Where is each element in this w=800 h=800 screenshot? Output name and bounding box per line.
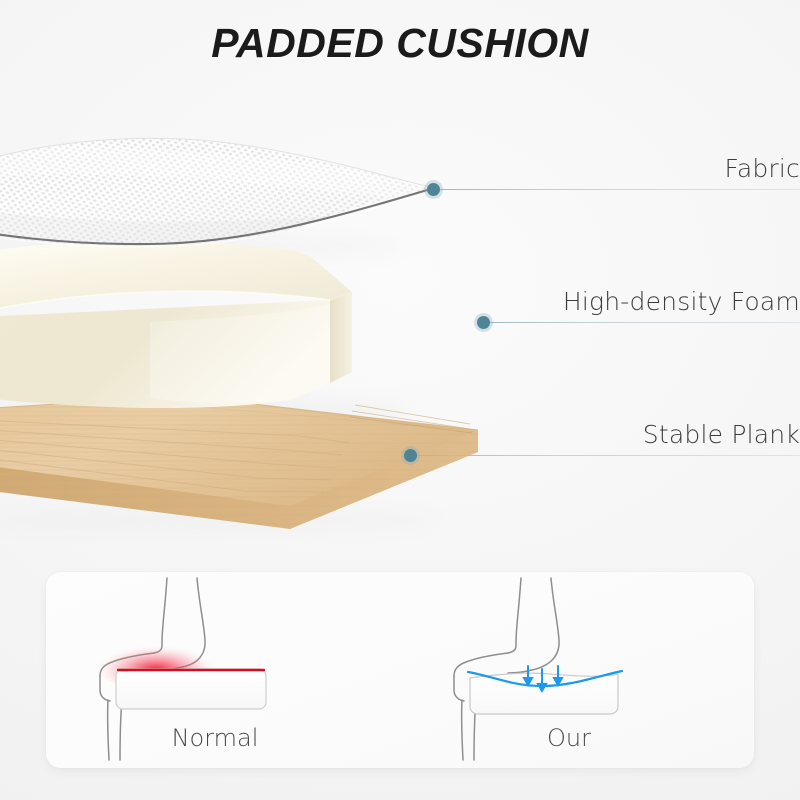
- callout-dot-icon: [427, 183, 440, 196]
- callout-dot-icon: [404, 449, 417, 462]
- callout-dot-icon: [477, 316, 490, 329]
- exploded-product-illustration: [0, 0, 800, 560]
- callout-leader-line: [410, 455, 800, 456]
- callout-label-fabric: Fabric: [725, 154, 800, 183]
- comparison-label-our: Our: [392, 724, 746, 752]
- layer-high-density-foam: [0, 240, 352, 408]
- comparison-card: Normal: [46, 572, 754, 768]
- foam-side: [330, 292, 352, 383]
- callout-leader-line: [433, 189, 800, 190]
- layer-stable-plank: [0, 396, 478, 529]
- infographic-canvas: PADDED CUSHION: [0, 0, 800, 800]
- our-cushion: [470, 673, 618, 714]
- callout-leader-line: [483, 322, 800, 323]
- callout-label-high-density-foam: High-density Foam: [563, 287, 800, 316]
- normal-cushion: [116, 669, 266, 709]
- callout-label-stable-plank: Stable Plank: [643, 420, 800, 449]
- comparison-label-normal: Normal: [38, 724, 392, 752]
- comparison-our: Our: [400, 572, 754, 768]
- comparison-normal: Normal: [46, 572, 400, 768]
